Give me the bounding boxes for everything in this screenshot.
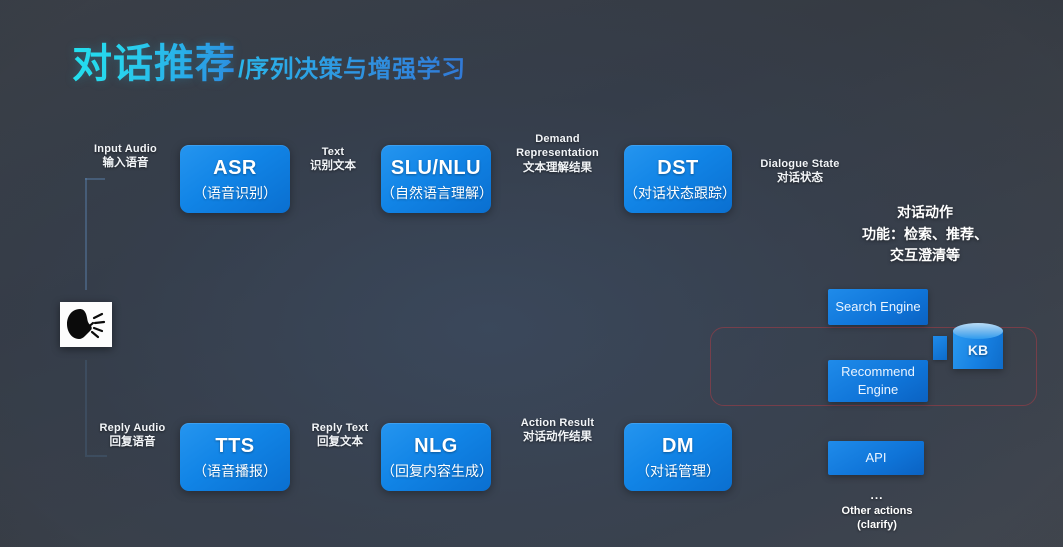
process-box-dm-subtitle: （对话管理）: [636, 463, 720, 481]
action-note-line3: 交互澄清等: [845, 245, 1005, 267]
flow-label-demand-representation-cn: 文本理解结果: [505, 161, 610, 176]
kb-label: KB: [953, 333, 1003, 367]
flow-label-demand-representation-en1: Demand: [505, 132, 610, 146]
connector-input-horizontal: [85, 178, 105, 180]
connector-reply-vertical: [85, 360, 87, 455]
page-title: 对话推荐 /序列决策与增强学习: [72, 31, 466, 89]
engine-box-recommend-label-1: Recommend: [841, 363, 915, 381]
process-box-slu-nlu[interactable]: SLU/NLU （自然语言理解）: [381, 145, 491, 213]
other-actions-line1: Other actions: [818, 504, 936, 518]
flow-label-dialogue-state: Dialogue State 对话状态: [752, 157, 848, 186]
flow-label-reply-text-en: Reply Text: [300, 421, 380, 435]
flow-label-demand-representation: Demand Representation 文本理解结果: [505, 132, 610, 176]
flow-label-dialogue-state-en: Dialogue State: [752, 157, 848, 171]
other-actions-label: ... Other actions (clarify): [818, 488, 936, 532]
flow-label-input-audio: Input Audio 输入语音: [83, 142, 168, 171]
flow-label-text-en: Text: [300, 145, 366, 159]
process-box-dm-title: DM: [662, 434, 694, 459]
engine-box-api[interactable]: API: [828, 441, 924, 475]
flow-label-text-cn: 识别文本: [300, 159, 366, 174]
process-box-nlg-title: NLG: [414, 434, 458, 459]
process-box-asr[interactable]: ASR （语音识别）: [180, 145, 290, 213]
engine-box-recommend-label-2: Engine: [858, 381, 898, 399]
other-actions-line2: (clarify): [818, 518, 936, 532]
speaking-person-icon: [60, 302, 112, 347]
process-box-dst-subtitle: （对话状态跟踪）: [624, 185, 732, 203]
flow-label-reply-audio-cn: 回复语音: [90, 435, 175, 450]
action-note-line1: 对话动作: [845, 202, 1005, 224]
process-box-nlg[interactable]: NLG （回复内容生成）: [381, 423, 491, 491]
flow-label-input-audio-cn: 输入语音: [83, 156, 168, 171]
engine-box-recommend[interactable]: Recommend Engine: [828, 360, 928, 402]
connector-reply-horizontal: [85, 455, 107, 457]
engine-kb-connector-nub: [933, 336, 947, 360]
flow-label-action-result-cn: 对话动作结果: [505, 430, 610, 445]
flow-label-action-result-en: Action Result: [505, 416, 610, 430]
process-box-dst-title: DST: [657, 156, 699, 181]
process-box-slu-nlu-title: SLU/NLU: [391, 156, 481, 181]
process-box-asr-title: ASR: [213, 156, 257, 181]
engine-box-search[interactable]: Search Engine: [828, 289, 928, 325]
flow-label-reply-text-cn: 回复文本: [300, 435, 380, 450]
process-box-tts[interactable]: TTS （语音播报）: [180, 423, 290, 491]
process-box-tts-title: TTS: [215, 434, 254, 459]
action-note: 对话动作 功能：检索、推荐、 交互澄清等: [845, 202, 1005, 267]
flow-label-reply-audio-en: Reply Audio: [90, 421, 175, 435]
other-actions-dots: ...: [818, 488, 936, 504]
process-box-dm[interactable]: DM （对话管理）: [624, 423, 732, 491]
process-box-nlg-subtitle: （回复内容生成）: [381, 463, 491, 481]
process-box-dst[interactable]: DST （对话状态跟踪）: [624, 145, 732, 213]
flow-label-reply-text: Reply Text 回复文本: [300, 421, 380, 450]
slide-canvas: 对话推荐 /序列决策与增强学习 Input Audio 输入语音 ASR （语音…: [0, 0, 1063, 547]
engine-box-search-label: Search Engine: [835, 298, 920, 316]
flow-label-reply-audio: Reply Audio 回复语音: [90, 421, 175, 450]
engine-box-api-label: API: [866, 449, 887, 467]
flow-label-action-result: Action Result 对话动作结果: [505, 416, 610, 445]
flow-label-dialogue-state-cn: 对话状态: [752, 171, 848, 186]
page-title-main: 对话推荐: [72, 31, 236, 89]
page-title-subtitle: /序列决策与增强学习: [238, 49, 466, 84]
connector-input-vertical: [85, 178, 87, 290]
flow-label-input-audio-en: Input Audio: [83, 142, 168, 156]
process-box-slu-nlu-subtitle: （自然语言理解）: [381, 185, 491, 203]
flow-label-text: Text 识别文本: [300, 145, 366, 174]
action-note-line2: 功能：检索、推荐、: [845, 224, 1005, 246]
flow-label-demand-representation-en2: Representation: [505, 146, 610, 160]
process-box-asr-subtitle: （语音识别）: [193, 185, 277, 203]
process-box-tts-subtitle: （语音播报）: [193, 463, 277, 481]
kb-database-cylinder[interactable]: KB: [953, 323, 1003, 375]
